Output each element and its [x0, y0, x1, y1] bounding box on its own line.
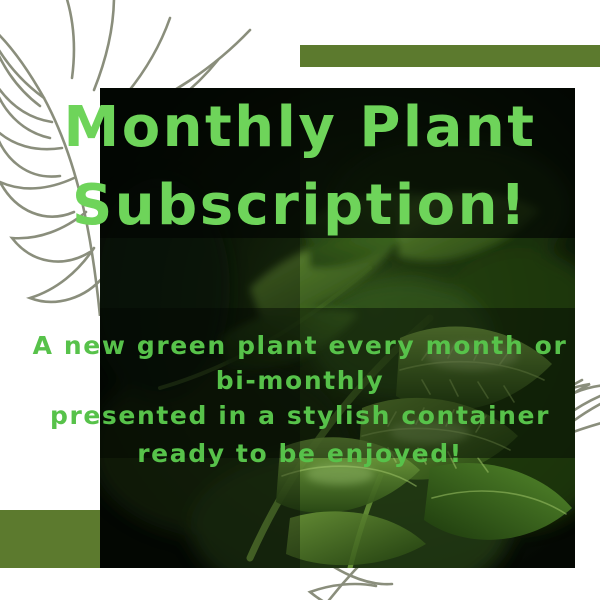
text-layer: Monthly Plant Subscription! A new green … — [0, 0, 600, 600]
headline-line-1: Monthly Plant — [0, 100, 600, 156]
poster-canvas: Monthly Plant Subscription! A new green … — [0, 0, 600, 600]
body-line-4: ready to be enjoyed! — [0, 441, 600, 466]
headline-line-2: Subscription! — [0, 178, 600, 234]
body-line-2: bi-monthly — [0, 368, 600, 393]
body-line-3: presented in a stylish container — [0, 403, 600, 428]
body-line-1: A new green plant every month or — [0, 333, 600, 358]
